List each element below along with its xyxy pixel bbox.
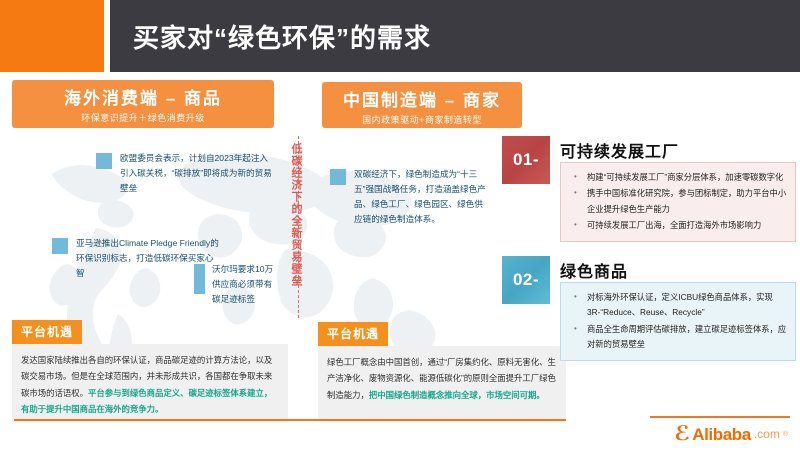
note-text: 沃尔玛要求10万供应商必须带有碳足迹标签	[212, 262, 276, 307]
banner-title: 中国制造端 – 商家	[322, 82, 522, 111]
logo-name: Alibaba	[692, 426, 751, 443]
banner-subtitle: 环保意识提升＋绿色消费升级	[12, 109, 274, 124]
list-item: 构建“可持续发展工厂”商家分层体系，加速零碳数字化	[565, 170, 787, 185]
list-item: 对标海外环保认证，定义ICBU绿色商品体系，实现3R-“Reduce、Reuse…	[565, 290, 787, 321]
logo-registered-icon: ®	[783, 431, 788, 438]
vertical-divider-label: 低碳经济下的全新贸易壁垒	[286, 143, 302, 311]
bullet-list: 对标海外环保认证，定义ICBU绿色商品体系，实现3R-“Reduce、Reuse…	[565, 290, 787, 352]
note-walmart-carbon-label: 沃尔玛要求10万供应商必须带有碳足迹标签	[194, 262, 276, 307]
note-text: 双碳经济下，绿色制造成为“十三五”强国战略任务，打造涵盖绿色产品、绿色工厂、绿色…	[354, 167, 490, 227]
right-item-title: 绿色商品	[560, 258, 628, 282]
alibaba-mark-icon: ℰ	[674, 424, 690, 444]
slide-root: 买家对“绿色环保”的需求 海外消费端 – 商品 环保意识提升＋绿色消费升级 中国…	[0, 0, 800, 452]
banner-title: 海外消费端 – 商品	[12, 80, 274, 109]
bullet-square-icon	[52, 238, 68, 254]
bullet-square-icon	[96, 153, 112, 169]
badge-number-02: 02-	[502, 256, 550, 304]
right-item-title: 可持续发展工厂	[560, 138, 679, 162]
note-text: 欧盟委员会表示，计划自2023年起注入引入碳关税，“碳排放”即将成为新的贸易壁垒	[120, 151, 274, 196]
bullet-square-icon	[330, 169, 346, 185]
note-eu-carbon-tariff: 欧盟委员会表示，计划自2023年起注入引入碳关税，“碳排放”即将成为新的贸易壁垒	[96, 151, 274, 196]
platform-opportunity-overseas: 平台机遇 发达国家陆续推出各自的环保认证，商品碳足迹的计算方法论，以及碳交易市场…	[12, 320, 288, 422]
orange-horizontal-rule	[14, 419, 566, 421]
page-title: 买家对“绿色环保”的需求	[133, 18, 431, 55]
opportunity-body: 发达国家陆续推出各自的环保认证，商品碳足迹的计算方法论，以及碳交易市场。但是在全…	[12, 344, 288, 422]
alibaba-logo: ℰ Alibaba .com ®	[675, 424, 788, 444]
logo-rule	[650, 416, 790, 418]
opportunity-text-highlight: 把中国绿色制造概念推向全球，市场空间可期。	[369, 390, 545, 400]
bullet-square-icon	[194, 264, 205, 294]
opportunity-tag: 平台机遇	[12, 320, 82, 344]
badge-number-01: 01-	[502, 136, 550, 184]
header-accent-block	[0, 0, 104, 72]
note-china-green-manufacturing: 双碳经济下，绿色制造成为“十三五”强国战略任务，打造涵盖绿色产品、绿色工厂、绿色…	[330, 167, 490, 227]
logo-domain: .com	[754, 428, 780, 441]
banner-overseas-consumer: 海外消费端 – 商品 环保意识提升＋绿色消费升级	[12, 80, 274, 128]
banner-subtitle: 国内政策驱动+商家制造转型	[322, 111, 522, 126]
opportunity-body: 绿色工厂概念由中国首创，通过“厂房集约化、原料无害化、生产洁净化、废物资源化、能…	[318, 346, 566, 422]
list-item: 可持续发展工厂出海，全面打造海外市场影响力	[565, 218, 787, 233]
right-item-bullet-box: 构建“可持续发展工厂”商家分层体系，加速零碳数字化 携手中国标准化研究院，参与团…	[560, 162, 796, 242]
list-item: 携手中国标准化研究院，参与团标制定，助力平台中小企业提升绿色生产能力	[565, 186, 787, 217]
platform-opportunity-china: 平台机遇 绿色工厂概念由中国首创，通过“厂房集约化、原料无害化、生产洁净化、废物…	[318, 322, 566, 422]
right-item-bullet-box: 对标海外环保认证，定义ICBU绿色商品体系，实现3R-“Reduce、Reuse…	[560, 282, 796, 361]
bullet-list: 构建“可持续发展工厂”商家分层体系，加速零碳数字化 携手中国标准化研究院，参与团…	[565, 170, 787, 233]
list-item: 商品全生命周期评估碳排放，建立碳足迹标签体系，应对新的贸易壁垒	[565, 322, 787, 353]
banner-china-manufacturing: 中国制造端 – 商家 国内政策驱动+商家制造转型	[322, 82, 522, 128]
opportunity-tag: 平台机遇	[318, 322, 388, 346]
